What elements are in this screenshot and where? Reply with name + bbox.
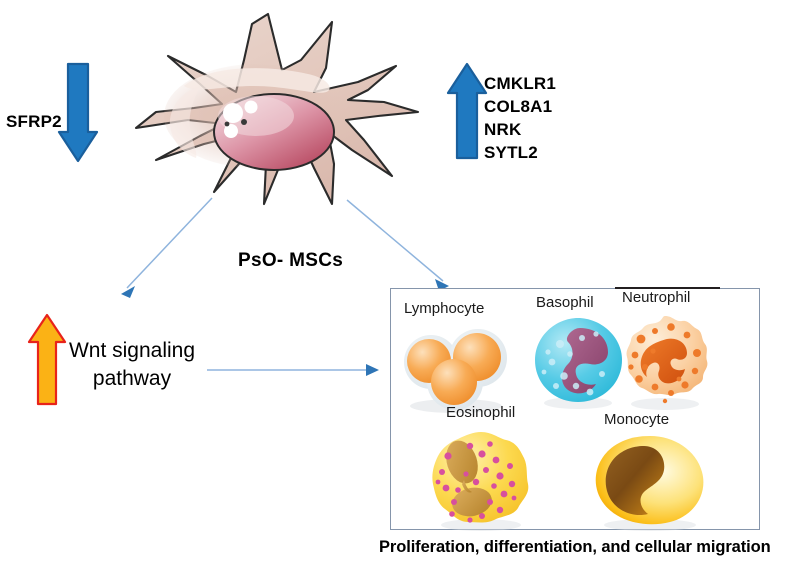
lymphocyte-label: Lymphocyte (404, 300, 484, 317)
figure-canvas: SFRP2 CMKLR1 COL8A1 NRK SYTL2 PsO- MSCs … (0, 0, 787, 566)
basophil-label: Basophil (536, 294, 594, 311)
wnt-label-line1: Wnt signaling (52, 337, 212, 365)
wnt-pathway-label: Wnt signaling pathway (52, 337, 212, 393)
wnt-label-line2: pathway (52, 365, 212, 393)
monocyte-illustration (588, 432, 712, 532)
eosinophil-label: Eosinophil (446, 404, 515, 421)
neutrophil-label: Neutrophil (622, 289, 690, 306)
monocyte-label: Monocyte (604, 411, 669, 428)
lymphocyte-illustration (398, 318, 516, 414)
eosinophil-illustration (424, 428, 538, 532)
outcome-caption: Proliferation, differentiation, and cell… (379, 538, 771, 557)
neutrophil-illustration (615, 313, 715, 411)
basophil-illustration (530, 314, 626, 410)
